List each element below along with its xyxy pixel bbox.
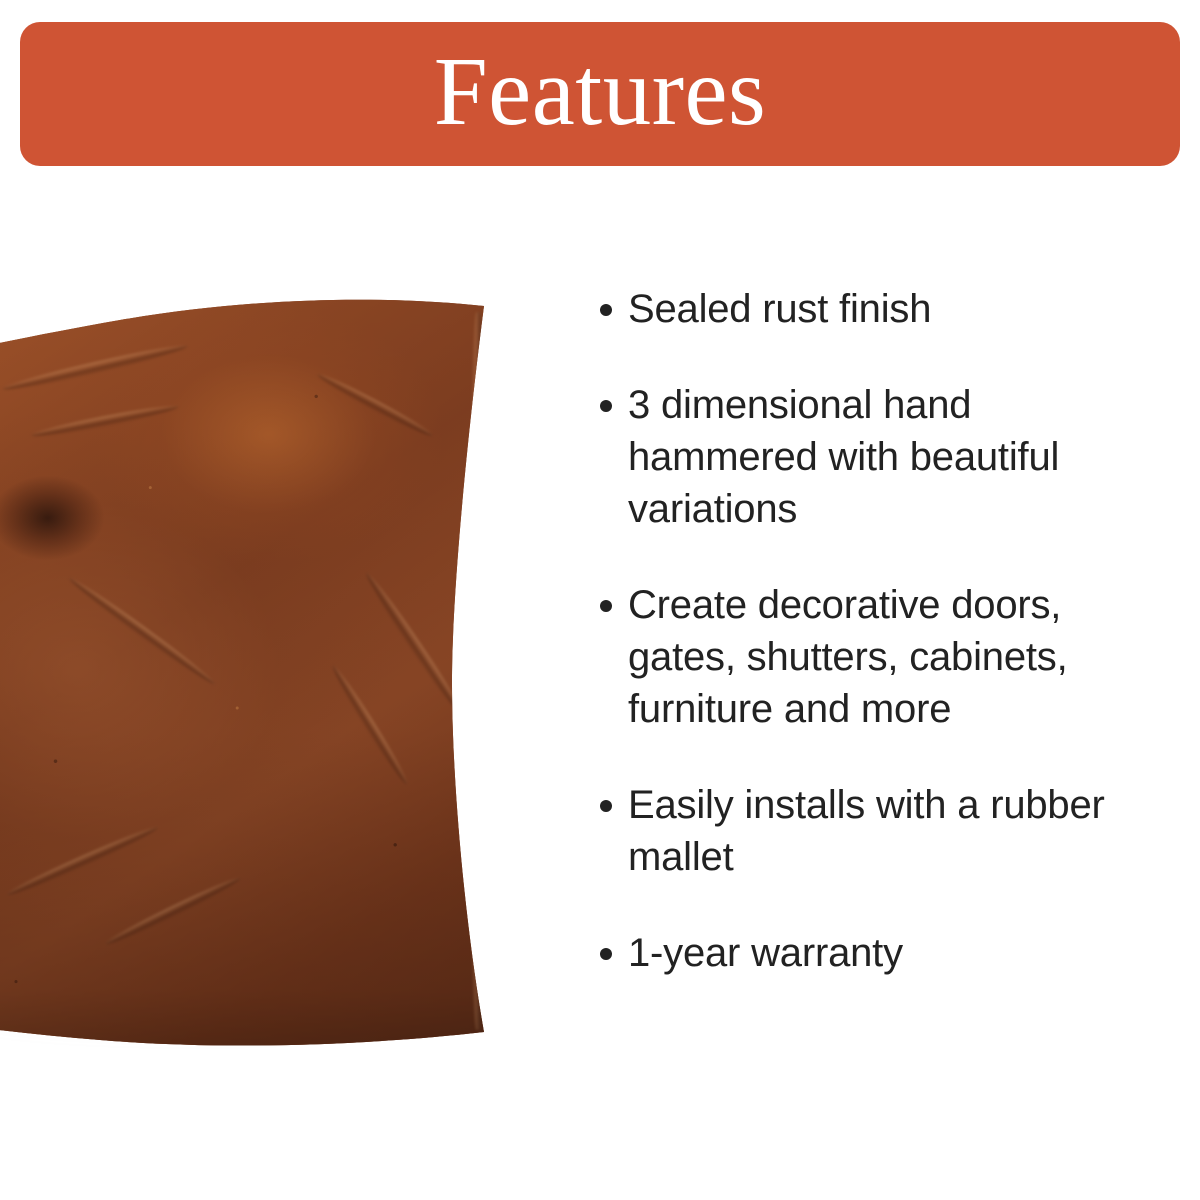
product-image: [0, 280, 520, 1080]
feature-list-item: 1-year warranty: [600, 927, 1120, 979]
feature-list-item: 3 dimensional hand hammered with beautif…: [600, 379, 1120, 535]
page-title: Features: [434, 43, 767, 146]
hammer-mark-icon: [315, 370, 434, 440]
hammer-mark-icon: [362, 570, 469, 721]
feature-callout-page: Features Sealed rust finish 3 dimensiona…: [0, 0, 1200, 1200]
hammer-mark-icon: [1, 341, 189, 394]
hammer-mark-icon: [329, 663, 412, 787]
hammer-mark-icon: [30, 402, 179, 440]
feature-list-item: Create decorative doors, gates, shutters…: [600, 579, 1120, 735]
feature-item-label: Easily installs with a rubber mallet: [628, 779, 1120, 883]
hammer-mark-icon: [5, 823, 160, 899]
hammer-mark-icon: [103, 874, 242, 949]
feature-item-label: Sealed rust finish: [628, 283, 1120, 335]
bullet-icon: [600, 600, 612, 612]
bullet-icon: [600, 800, 612, 812]
feature-item-label: Create decorative doors, gates, shutters…: [628, 579, 1120, 735]
hammer-mark-icon: [66, 574, 218, 688]
bullet-icon: [600, 304, 612, 316]
clavo-edge-highlight: [470, 312, 486, 1030]
bullet-icon: [600, 948, 612, 960]
features-list: Sealed rust finish 3 dimensional hand ha…: [600, 283, 1120, 979]
feature-item-label: 1-year warranty: [628, 927, 1120, 979]
feature-item-label: 3 dimensional hand hammered with beautif…: [628, 379, 1120, 535]
header-banner: Features: [20, 22, 1180, 166]
feature-list-item: Sealed rust finish: [600, 283, 1120, 335]
clavo-nail-head-graphic: [0, 290, 490, 1050]
feature-list-item: Easily installs with a rubber mallet: [600, 779, 1120, 883]
bullet-icon: [600, 400, 612, 412]
